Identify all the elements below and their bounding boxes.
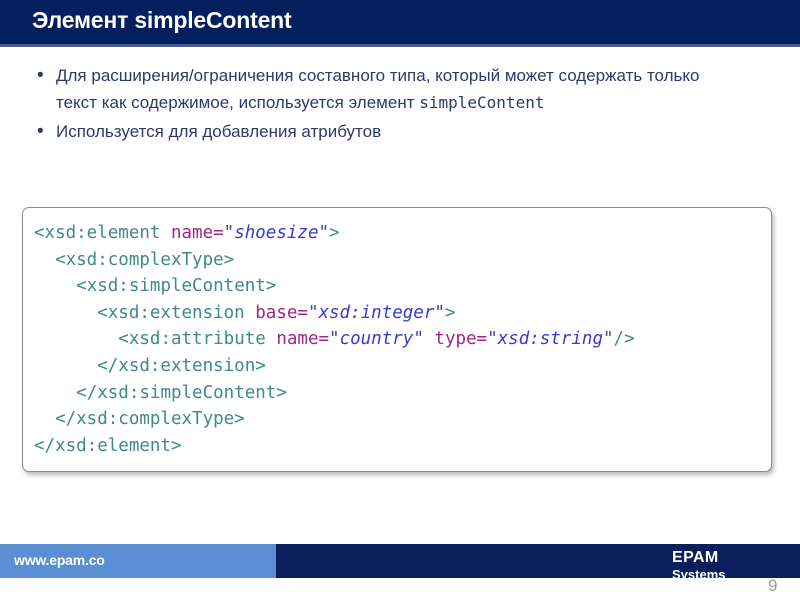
code-indent <box>34 383 76 403</box>
code-indent <box>34 409 55 429</box>
bullet-point-icon: • <box>34 118 56 145</box>
code-token-tag: </xsd:extension> <box>97 356 266 376</box>
code-indent <box>34 356 97 376</box>
code-indent <box>34 276 76 296</box>
code-token-val: "xsd:integer" <box>308 303 445 323</box>
code-indent <box>34 303 97 323</box>
epam-logo: EPAM Systems <box>672 549 782 578</box>
code-token-tag: <xsd:extension <box>97 303 255 323</box>
bullet-item-text: Для расширения/ограничения составного ти… <box>56 62 744 116</box>
code-line: </xsd:simpleContent> <box>34 380 635 407</box>
bullet-item-text: Используется для добавления атрибутов <box>56 118 744 145</box>
code-token-punct: > <box>445 303 456 323</box>
bullet-text-code-term: simpleContent <box>419 93 544 112</box>
code-token-tag: <xsd:complexType> <box>55 250 234 270</box>
bullet-item: •Для расширения/ограничения составного т… <box>34 62 744 116</box>
page-number: 9 <box>768 576 777 596</box>
page-title-plain: Элемент <box>32 7 134 33</box>
bullet-item: •Используется для добавления атрибутов <box>34 118 744 145</box>
code-sample-content: <xsd:element name="shoesize"> <xsd:compl… <box>34 220 635 459</box>
code-token-tag: </xsd:simpleContent> <box>76 383 287 403</box>
code-token-tag: </xsd:complexType> <box>55 409 245 429</box>
page-title: Элемент simpleContent <box>32 7 291 34</box>
code-line: <xsd:complexType> <box>34 247 635 274</box>
code-indent <box>34 329 118 349</box>
epam-logo-subtitle: Systems <box>672 567 782 578</box>
footer-url-label[interactable]: www.epam.co <box>14 552 105 568</box>
bullet-point-icon: • <box>34 62 56 89</box>
epam-logo-name: EPAM <box>672 549 782 567</box>
code-line: </xsd:complexType> <box>34 406 635 433</box>
bullet-list: •Для расширения/ограничения составного т… <box>34 62 744 147</box>
code-sample-box: <xsd:element name="shoesize"> <xsd:compl… <box>22 207 772 472</box>
code-line: <xsd:simpleContent> <box>34 273 635 300</box>
page-title-code: simpleContent <box>134 7 291 33</box>
code-token-punct: > <box>329 223 340 243</box>
code-token-val: "shoesize" <box>224 223 329 243</box>
code-token-attr: type= <box>434 329 487 349</box>
code-token-val: "xsd:string" <box>487 329 613 349</box>
code-token-tag <box>424 329 435 349</box>
code-token-attr: name= <box>276 329 329 349</box>
bullet-text-segment: Используется для добавления атрибутов <box>56 122 381 141</box>
code-indent <box>34 250 55 270</box>
code-line: <xsd:element name="shoesize"> <box>34 220 635 247</box>
header-underline-rule <box>0 44 800 47</box>
code-line: </xsd:element> <box>34 433 635 460</box>
code-token-tag: <xsd:attribute <box>118 329 276 349</box>
code-token-tag: </xsd:element> <box>34 436 182 456</box>
code-token-attr: base= <box>255 303 308 323</box>
code-token-val: "country" <box>329 329 424 349</box>
code-line: </xsd:extension> <box>34 353 635 380</box>
code-line: <xsd:attribute name="country" type="xsd:… <box>34 326 635 353</box>
code-token-punct: /> <box>614 329 635 349</box>
bullet-text-segment: Для расширения/ограничения составного ти… <box>56 66 700 112</box>
code-token-attr: name= <box>171 223 224 243</box>
code-token-tag: <xsd:element <box>34 223 171 243</box>
code-line: <xsd:extension base="xsd:integer"> <box>34 300 635 327</box>
code-token-tag: <xsd:simpleContent> <box>76 276 276 296</box>
